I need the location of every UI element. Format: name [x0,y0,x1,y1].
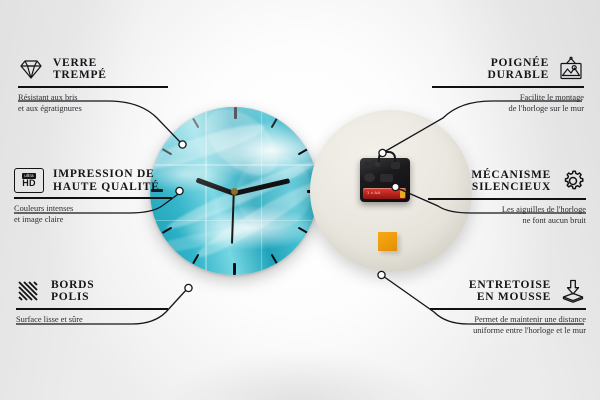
feature-entretoise-mousse: ENTRETOISE EN MOUSSE Permet de maintenir… [430,278,586,336]
picture-frame-hanger-icon [558,56,584,82]
arrow-down-foam-icon [560,278,586,304]
feature-bords-sub-1: Surface lisse et sûre [16,314,168,325]
feature-poignee-titles: POIGNÉE DURABLE [488,57,549,82]
diagonal-lines-icon [16,278,42,304]
feature-entretoise-title-2: EN MOUSSE [469,291,551,303]
feature-verre-sub-2: et aux égratignures [18,103,168,114]
feature-mecanisme-titles: MÉCANISME SILENCIEUX [471,169,551,194]
feature-impression-title-1: IMPRESSION DE [53,168,160,180]
feature-entretoise-sub-1: Permet de maintenir une distance [430,314,586,325]
product-infographic: 1 x AA [0,0,600,400]
diamond-icon [18,56,44,82]
feature-impression-sub-2: et image claire [14,214,172,225]
feature-verre-title-2: TREMPÉ [53,69,107,81]
feature-bords-title-2: POLIS [51,291,94,303]
feature-impression-sub-1: Couleurs intenses [14,203,172,214]
feature-poignee-sub-2: de l'horloge sur le mur [432,103,584,114]
feature-mecanisme-sub-1: Les aiguilles de l'horloge [428,204,586,215]
feature-verre-title-1: VERRE [53,57,107,69]
feature-mecanisme-rule [428,198,586,200]
feature-impression-titles: IMPRESSION DE HAUTE QUALITÉ [53,168,160,193]
feature-mecanisme-silencieux: MÉCANISME SILENCIEUX Les aiguilles de l'… [428,168,586,226]
feature-mecanisme-sub-2: ne font aucun bruit [428,215,586,226]
feature-verre-sub-1: Résistant aux bris [18,92,168,103]
feature-poignee-rule [432,86,584,88]
ultra-hd-badge-bottom: HD [22,179,35,188]
feature-mecanisme-title-1: MÉCANISME [471,169,551,181]
feature-entretoise-titles: ENTRETOISE EN MOUSSE [469,279,551,304]
gear-icon [560,168,586,194]
feature-mecanisme-title-2: SILENCIEUX [471,181,551,193]
feature-entretoise-title-1: ENTRETOISE [469,279,551,291]
feature-verre-titles: VERRE TREMPÉ [53,57,107,82]
feature-entretoise-rule [430,308,586,310]
feature-bords-polis: BORDS POLIS Surface lisse et sûre [16,278,168,325]
feature-impression-title-2: HAUTE QUALITÉ [53,181,160,193]
feature-impression-hd: ultra HD IMPRESSION DE HAUTE QUALITÉ Cou… [14,168,172,225]
feature-poignee-durable: POIGNÉE DURABLE Facilite le montage de l… [432,56,584,114]
feature-entretoise-sub-2: uniforme entre l'horloge et le mur [430,325,586,336]
feature-bords-rule [16,308,168,310]
feature-poignee-sub-1: Facilite le montage [432,92,584,103]
feature-impression-rule [14,197,172,199]
feature-verre-trempe: VERRE TREMPÉ Résistant aux bris et aux é… [18,56,168,114]
feature-bords-title-1: BORDS [51,279,94,291]
feature-poignee-title-2: DURABLE [488,69,549,81]
feature-poignee-title-1: POIGNÉE [488,57,549,69]
ultra-hd-badge-icon: ultra HD [14,168,44,193]
feature-verre-rule [18,86,168,88]
feature-bords-titles: BORDS POLIS [51,279,94,304]
